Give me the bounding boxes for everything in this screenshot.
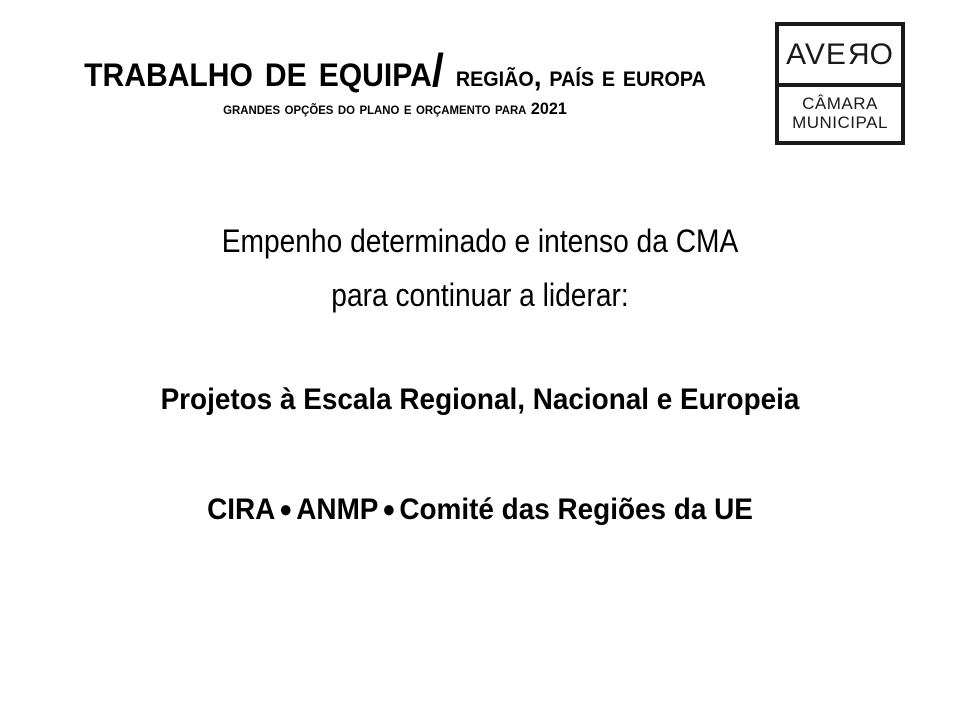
aveiro-logo: AVERO CÂMARA MUNICIPAL	[775, 22, 905, 145]
emphasis-line-organisations: CIRA●ANMP●Comité das Regiões da UE	[34, 490, 927, 530]
bullet-separator-icon: ●	[275, 496, 296, 523]
logo-top-section: AVERO	[779, 26, 901, 87]
page-subtitle: Grandes Opções do Plano e Orçamento para…	[20, 100, 771, 119]
emphasis-block-organisations: CIRA●ANMP●Comité das Regiões da UE	[0, 490, 960, 530]
title-slash: /	[432, 44, 444, 96]
emphasis-block-projects: Projetos à Escala Regional, Nacional e E…	[0, 380, 960, 420]
body-line-1: Empenho determinado e intenso da CMA	[58, 214, 903, 268]
title-lead: Trabalho de Equipa	[84, 44, 432, 96]
logo-wordmark-aveiro: AVERO	[786, 40, 894, 70]
logo-line-camara: CÂMARA	[802, 94, 878, 113]
subtitle-year: 2021	[531, 99, 567, 118]
body-line-2: para continuar a liderar:	[58, 268, 903, 322]
body-text-block: Empenho determinado e intenso da CMA par…	[0, 214, 960, 322]
org-label-cira: CIRA	[207, 493, 275, 526]
logo-bottom-section: CÂMARA MUNICIPAL	[779, 87, 901, 141]
subtitle-text: Grandes Opções do Plano e Orçamento para	[223, 99, 526, 118]
page-title: Trabalho de Equipa/ Região, País e Europ…	[24, 46, 767, 94]
org-label-comite-regioes: Comité das Regiões da UE	[399, 493, 753, 526]
title-block: Trabalho de Equipa/ Região, País e Europ…	[0, 46, 790, 119]
logo-word-part-ave: AVE	[786, 38, 847, 71]
title-tail: Região, País e Europa	[456, 60, 706, 93]
emphasis-line-projects: Projetos à Escala Regional, Nacional e E…	[34, 380, 927, 420]
logo-line-municipal: MUNICIPAL	[792, 113, 888, 132]
logo-reversed-r-glyph: R	[847, 40, 870, 70]
logo-word-part-o: O	[870, 38, 894, 71]
org-label-anmp: ANMP	[296, 493, 378, 526]
bullet-separator-icon: ●	[378, 496, 399, 523]
slide-canvas: Trabalho de Equipa/ Região, País e Europ…	[0, 0, 960, 720]
